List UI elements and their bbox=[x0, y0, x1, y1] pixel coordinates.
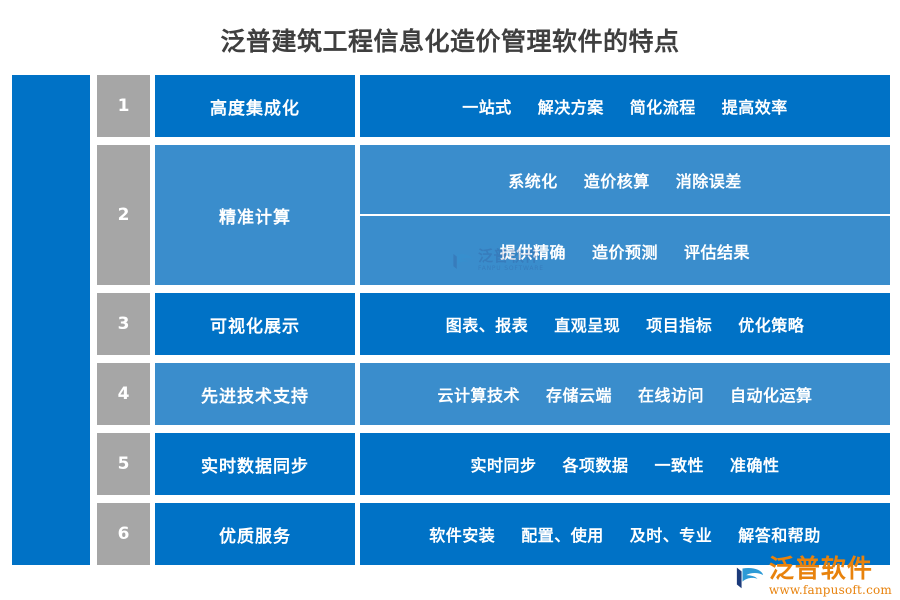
feature-row: 4先进技术支持云计算技术存储云端在线访问自动化运算 bbox=[97, 363, 890, 425]
row-detail-item: 消除误差 bbox=[676, 168, 742, 192]
row-detail-item: 评估结果 bbox=[684, 239, 750, 263]
feature-row: 3可视化展示图表、报表直观呈现项目指标优化策略 bbox=[97, 293, 890, 355]
row-detail-item: 图表、报表 bbox=[446, 312, 529, 336]
row-detail-item: 自动化运算 bbox=[730, 382, 813, 406]
row-index-cell: 4 bbox=[97, 363, 150, 425]
row-detail-line: 图表、报表直观呈现项目指标优化策略 bbox=[360, 293, 890, 355]
row-detail-line: 实时同步各项数据一致性准确性 bbox=[360, 433, 890, 495]
row-detail-item: 解决方案 bbox=[538, 94, 604, 118]
brand-logo-text: 泛普软件 www.fanpusoft.com bbox=[769, 556, 892, 596]
row-label-cell: 高度集成化 bbox=[155, 75, 355, 137]
row-label-cell: 精准计算 bbox=[155, 145, 355, 285]
row-detail-item: 准确性 bbox=[730, 452, 780, 476]
row-detail-item: 存储云端 bbox=[546, 382, 612, 406]
feature-row: 1高度集成化一站式解决方案简化流程提高效率 bbox=[97, 75, 890, 137]
row-detail-item: 在线访问 bbox=[638, 382, 704, 406]
fanpu-swoosh-icon bbox=[735, 561, 765, 591]
row-detail-cell: 云计算技术存储云端在线访问自动化运算 bbox=[360, 363, 890, 425]
row-detail-cell: 系统化造价核算消除误差提供精确造价预测评估结果 bbox=[360, 145, 890, 285]
row-label-cell: 实时数据同步 bbox=[155, 433, 355, 495]
feature-row: 2精准计算系统化造价核算消除误差提供精确造价预测评估结果 bbox=[97, 145, 890, 285]
brand-logo-name: 泛普软件 bbox=[769, 556, 892, 581]
row-detail-item: 云计算技术 bbox=[437, 382, 520, 406]
row-detail-line: 一站式解决方案简化流程提高效率 bbox=[360, 75, 890, 137]
row-detail-item: 直观呈现 bbox=[554, 312, 620, 336]
row-detail-cell: 图表、报表直观呈现项目指标优化策略 bbox=[360, 293, 890, 355]
row-detail-item: 优化策略 bbox=[738, 312, 804, 336]
row-detail-item: 一致性 bbox=[655, 452, 705, 476]
feature-rows-list: 1高度集成化一站式解决方案简化流程提高效率2精准计算系统化造价核算消除误差提供精… bbox=[97, 75, 890, 565]
row-detail-item: 一站式 bbox=[462, 94, 512, 118]
row-detail-item: 造价预测 bbox=[592, 239, 658, 263]
row-detail-cell: 一站式解决方案简化流程提高效率 bbox=[360, 75, 890, 137]
row-detail-item: 各项数据 bbox=[562, 452, 628, 476]
row-label-cell: 优质服务 bbox=[155, 503, 355, 565]
row-detail-line: 提供精确造价预测评估结果 bbox=[360, 214, 890, 285]
row-detail-item: 造价核算 bbox=[584, 168, 650, 192]
infographic-canvas: 泛普建筑工程信息化造价管理软件的特点 1高度集成化一站式解决方案简化流程提高效率… bbox=[0, 0, 900, 600]
row-detail-item: 实时同步 bbox=[470, 452, 536, 476]
row-detail-item: 软件安装 bbox=[429, 522, 495, 546]
row-label-cell: 可视化展示 bbox=[155, 293, 355, 355]
feature-row: 5实时数据同步实时同步各项数据一致性准确性 bbox=[97, 433, 890, 495]
row-detail-item: 解答和帮助 bbox=[738, 522, 821, 546]
row-index-cell: 5 bbox=[97, 433, 150, 495]
page-title: 泛普建筑工程信息化造价管理软件的特点 bbox=[0, 24, 900, 60]
brand-logo: 泛普软件 www.fanpusoft.com bbox=[735, 556, 892, 596]
row-index-cell: 1 bbox=[97, 75, 150, 137]
row-detail-item: 简化流程 bbox=[630, 94, 696, 118]
row-detail-item: 提高效率 bbox=[722, 94, 788, 118]
row-label-cell: 先进技术支持 bbox=[155, 363, 355, 425]
row-detail-item: 项目指标 bbox=[646, 312, 712, 336]
left-accent-bar bbox=[12, 75, 90, 565]
row-detail-line: 系统化造价核算消除误差 bbox=[360, 145, 890, 214]
brand-logo-url: www.fanpusoft.com bbox=[769, 584, 892, 596]
row-detail-cell: 实时同步各项数据一致性准确性 bbox=[360, 433, 890, 495]
row-detail-item: 配置、使用 bbox=[521, 522, 604, 546]
row-detail-item: 及时、专业 bbox=[630, 522, 713, 546]
row-detail-item: 系统化 bbox=[508, 168, 558, 192]
row-detail-item: 提供精确 bbox=[500, 239, 566, 263]
row-index-cell: 2 bbox=[97, 145, 150, 285]
row-index-cell: 6 bbox=[97, 503, 150, 565]
row-detail-line: 云计算技术存储云端在线访问自动化运算 bbox=[360, 363, 890, 425]
row-index-cell: 3 bbox=[97, 293, 150, 355]
